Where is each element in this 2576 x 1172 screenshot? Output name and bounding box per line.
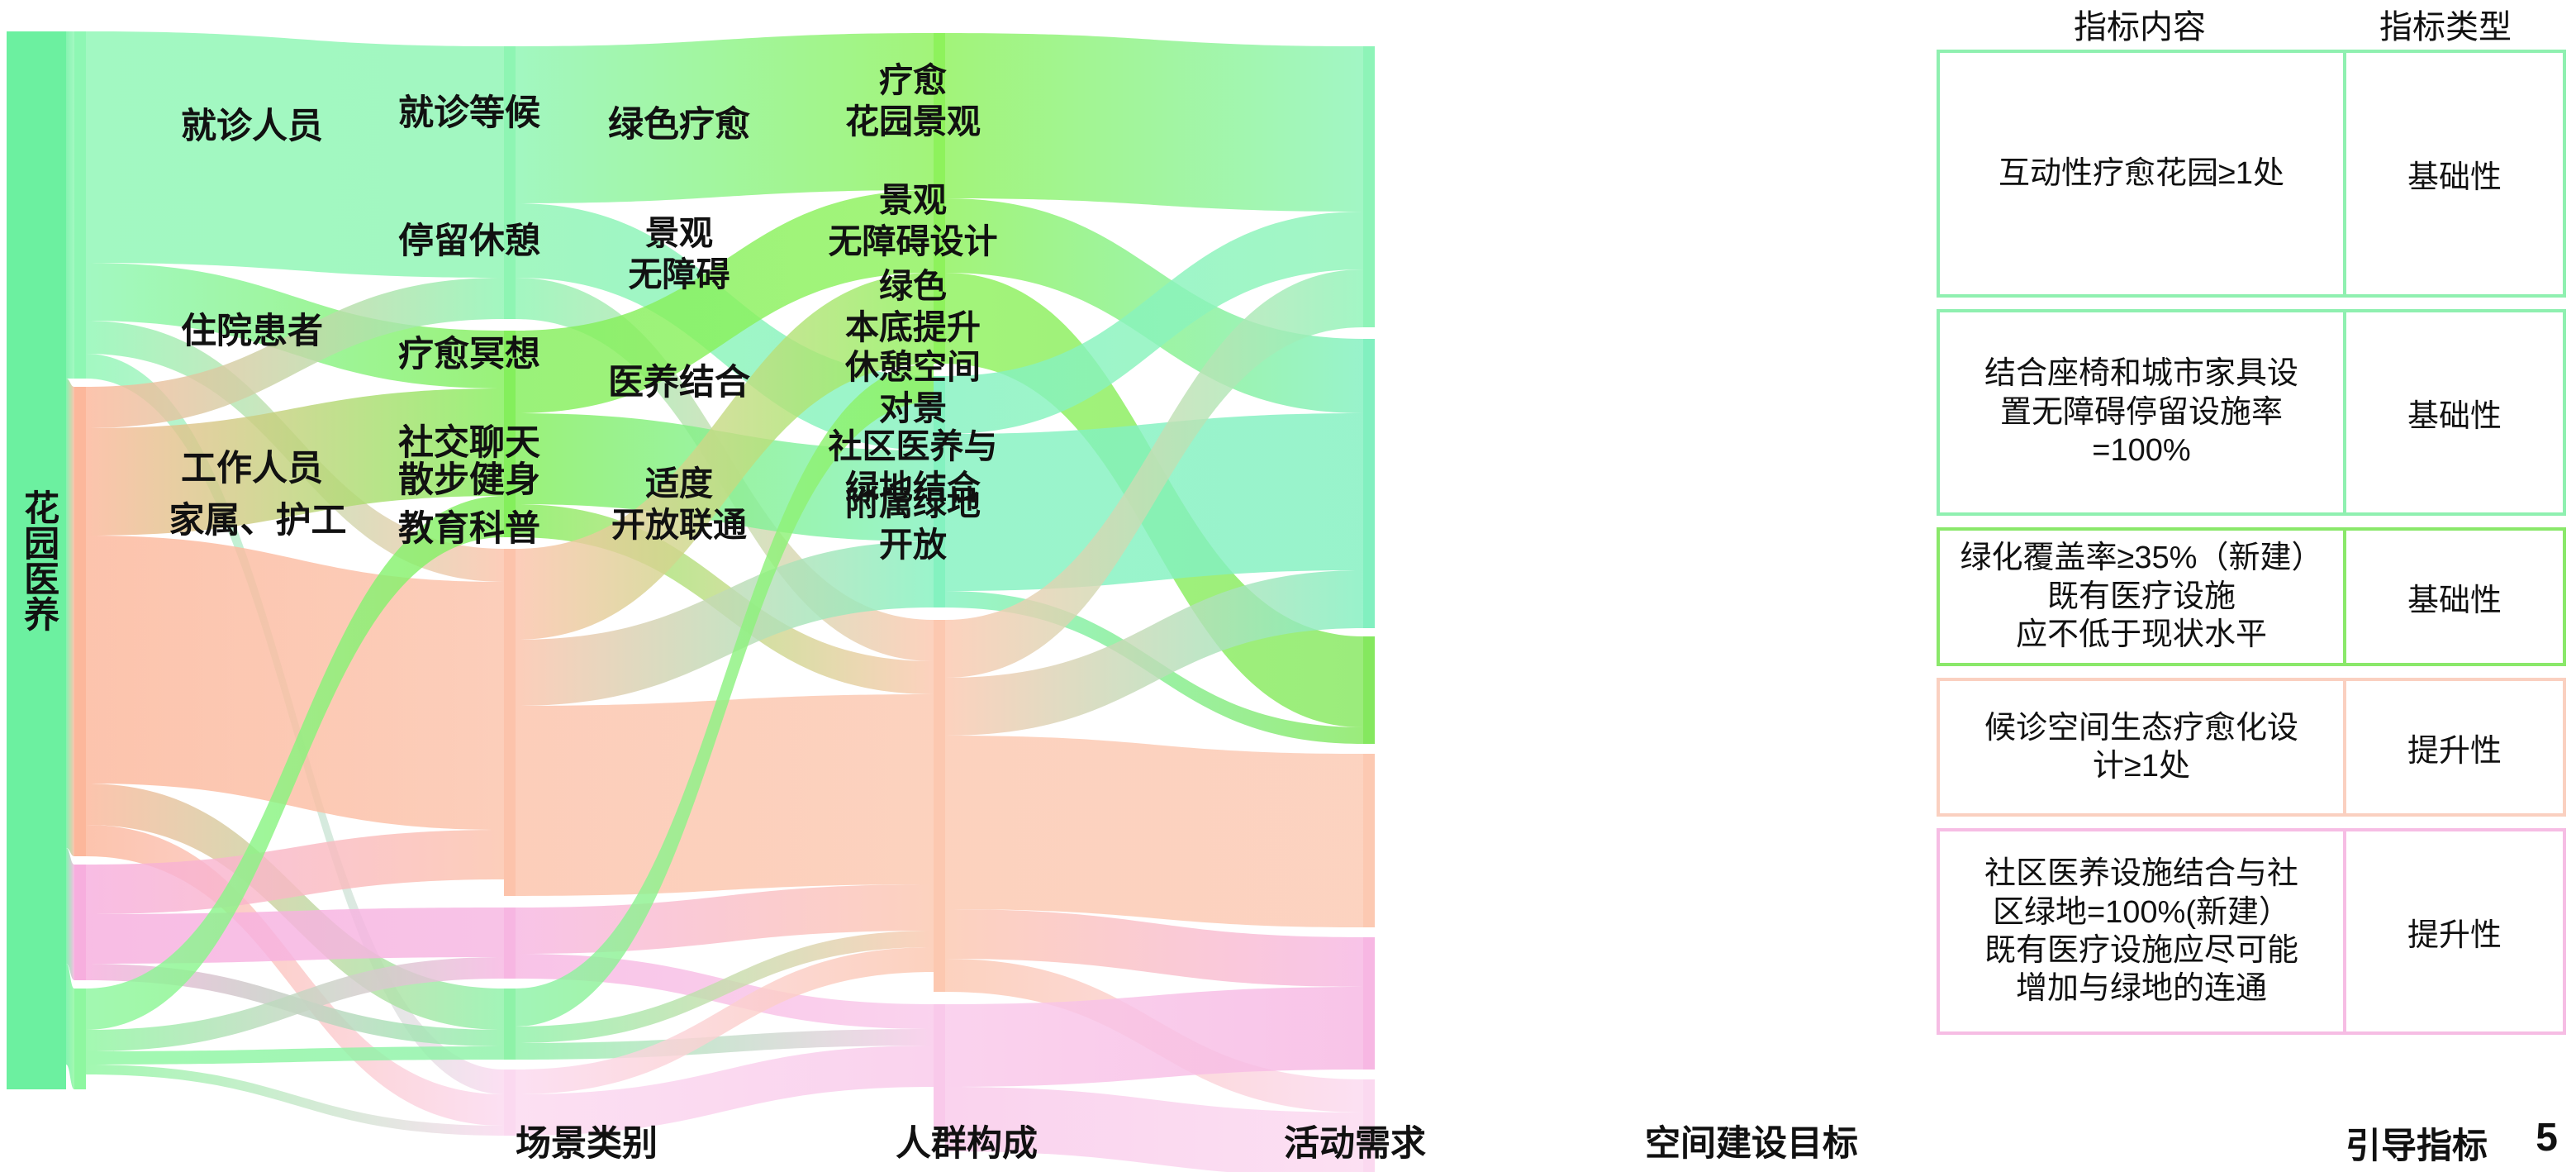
table-cell-type: 提升性 bbox=[2346, 831, 2563, 1031]
sankey-node-n13[interactable] bbox=[934, 620, 945, 992]
axis-label-c4: 空间建设目标 bbox=[1645, 1124, 1858, 1164]
sankey-node-n4[interactable] bbox=[74, 989, 86, 1089]
table-row: 候诊空间生态疗愈化设计≥1处提升性 bbox=[1937, 678, 2566, 817]
sankey-node-n16[interactable] bbox=[1363, 339, 1375, 628]
table-header-content: 指标内容 bbox=[1933, 0, 2346, 48]
node-label-n5: 就诊等候 bbox=[398, 93, 540, 133]
sankey-link bbox=[945, 33, 1363, 212]
table-cell-type: 基础性 bbox=[2346, 53, 2563, 294]
table-body: 互动性疗愈花园≥1处基础性结合座椅和城市家具设置无障碍停留设施率=100%基础性… bbox=[1937, 50, 2566, 1046]
table-row: 互动性疗愈花园≥1处基础性 bbox=[1937, 50, 2566, 298]
table-cell-type: 基础性 bbox=[2346, 531, 2563, 663]
sankey-node-n15[interactable] bbox=[1363, 46, 1375, 327]
table-cell-content: 互动性疗愈花园≥1处 bbox=[1940, 53, 2346, 294]
sankey-node-n19[interactable] bbox=[1363, 937, 1375, 1070]
sankey-link bbox=[66, 31, 74, 379]
sankey-node-n5[interactable] bbox=[504, 46, 516, 319]
node-label-n1: 就诊人员 bbox=[181, 107, 323, 146]
node-label-n6: 停留休憩 bbox=[398, 222, 540, 261]
node-label-n9: 散步健身 bbox=[398, 460, 540, 500]
sankey-node-n7[interactable] bbox=[504, 549, 516, 896]
node-label-n4: 家属、护工 bbox=[169, 501, 347, 541]
node-label-n7: 疗愈冥想 bbox=[398, 335, 540, 374]
axis-label-c3: 活动需求 bbox=[1284, 1124, 1426, 1164]
sankey-node-n9[interactable] bbox=[504, 989, 516, 1060]
table-cell-type: 提升性 bbox=[2346, 681, 2563, 813]
sankey-link bbox=[516, 694, 934, 896]
table-cell-type: 基础性 bbox=[2346, 312, 2563, 512]
table-cell-content: 社区医养设施结合与社区绿地=100%(新建）既有医疗设施应尽可能增加与绿地的连通 bbox=[1940, 831, 2346, 1031]
table-header-type: 指标类型 bbox=[2346, 0, 2545, 48]
sankey-node-n14[interactable] bbox=[934, 1004, 945, 1128]
sankey-node-n17[interactable] bbox=[1363, 636, 1375, 744]
sankey-link bbox=[66, 964, 74, 1089]
node-label-n8: 社交聊天 bbox=[398, 423, 540, 463]
sankey-diagram: 花园医养就诊人员住院患者工作人员家属、护工就诊等候停留休憩疗愈冥想社交聊天散步健… bbox=[0, 0, 1933, 1172]
table-cell-content: 结合座椅和城市家具设置无障碍停留设施率=100% bbox=[1940, 312, 2346, 512]
sankey-node-n10[interactable] bbox=[504, 1070, 516, 1136]
table-cell-content: 绿化覆盖率≥35%（新建）既有医疗设施应不低于现状水平 bbox=[1940, 531, 2346, 663]
table-row: 社区医养设施结合与社区绿地=100%(新建）既有医疗设施应尽可能增加与绿地的连通… bbox=[1937, 828, 2566, 1035]
node-label-n10: 教育科普 bbox=[398, 509, 540, 549]
sankey-link bbox=[66, 848, 74, 980]
table-header-row: 指标内容 指标类型 bbox=[1933, 0, 2576, 48]
sankey-links bbox=[66, 31, 1363, 1172]
table-row: 绿化覆盖率≥35%（新建）既有医疗设施应不低于现状水平基础性 bbox=[1937, 527, 2566, 666]
indicator-table: 指标内容 指标类型 互动性疗愈花园≥1处基础性结合座椅和城市家具设置无障碍停留设… bbox=[1933, 0, 2576, 1172]
sankey-link bbox=[86, 536, 504, 830]
node-label-n3: 工作人员 bbox=[181, 449, 323, 488]
node-label-n0: 花园医养 bbox=[19, 489, 60, 631]
axis-label-c6: 引导指标 bbox=[2251, 1117, 2576, 1169]
sankey-node-n18[interactable] bbox=[1363, 754, 1375, 927]
node-label-n2: 住院患者 bbox=[181, 312, 323, 351]
sankey-node-n2[interactable] bbox=[74, 387, 86, 856]
axis-label-c1: 场景类别 bbox=[516, 1124, 658, 1164]
table-row: 结合座椅和城市家具设置无障碍停留设施率=100%基础性 bbox=[1937, 309, 2566, 516]
node-label-n11: 绿色疗愈 bbox=[608, 105, 750, 145]
sankey-link bbox=[945, 987, 1363, 1087]
sankey-link bbox=[66, 379, 74, 856]
sankey-link bbox=[86, 908, 504, 964]
axis-label-c2: 人群构成 bbox=[896, 1124, 1038, 1164]
sankey-node-n8[interactable] bbox=[504, 908, 516, 979]
page-number: 5 bbox=[2536, 1115, 2558, 1160]
sankey-node-n1[interactable] bbox=[74, 31, 86, 379]
table-cell-content: 候诊空间生态疗愈化设计≥1处 bbox=[1940, 681, 2346, 813]
node-label-n13: 医养结合 bbox=[608, 363, 750, 403]
sankey-link bbox=[945, 736, 1363, 927]
sankey-node-n3[interactable] bbox=[74, 865, 86, 980]
